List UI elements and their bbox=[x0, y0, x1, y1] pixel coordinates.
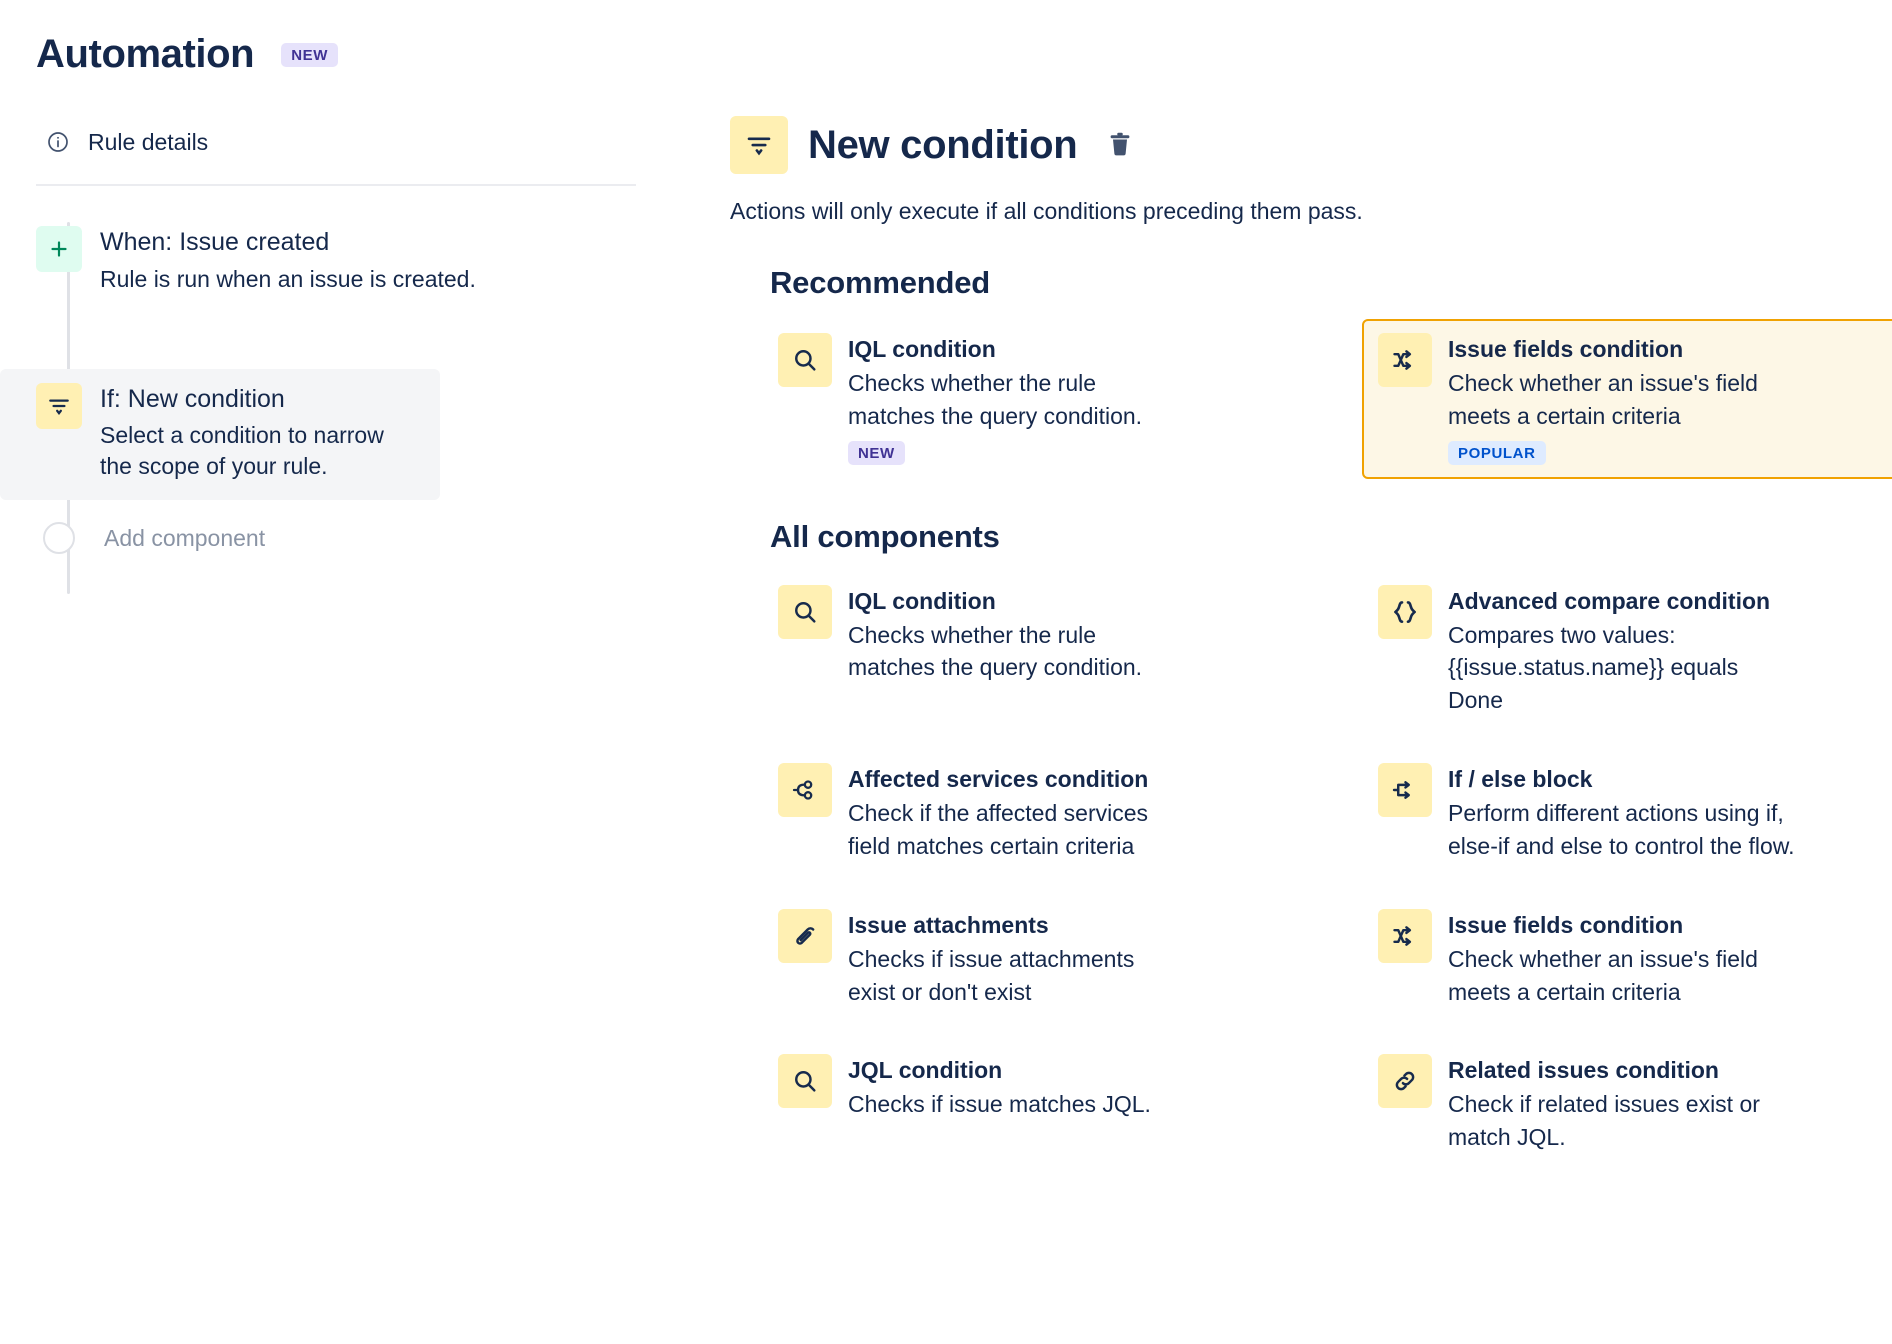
automation-page: Automation NEW Rule details bbox=[0, 0, 1892, 1344]
filter-icon bbox=[730, 116, 788, 174]
timeline-node-body: When: Issue created Rule is run when an … bbox=[100, 226, 476, 295]
sidebar-header: Automation NEW bbox=[0, 0, 720, 86]
component-card-jql-condition[interactable]: JQL condition Checks if issue matches JQ… bbox=[762, 1040, 1362, 1168]
braces-icon bbox=[1378, 585, 1432, 639]
component-card-iql-condition-all[interactable]: IQL condition Checks whether the rule ma… bbox=[762, 571, 1362, 732]
panel-title: New condition bbox=[808, 125, 1077, 165]
rule-timeline: When: Issue created Rule is run when an … bbox=[0, 212, 720, 574]
component-desc: Checks whether the rule matches the quer… bbox=[848, 367, 1178, 433]
component-name: Issue fields condition bbox=[1448, 911, 1793, 941]
component-text: Issue fields condition Check whether an … bbox=[1448, 333, 1793, 465]
component-name: Issue fields condition bbox=[1448, 335, 1793, 365]
timeline-node-desc: Rule is run when an issue is created. bbox=[100, 264, 476, 295]
component-text: Issue attachments Checks if issue attach… bbox=[848, 909, 1183, 1009]
component-name: Related issues condition bbox=[1448, 1056, 1788, 1086]
component-name: IQL condition bbox=[848, 587, 1178, 617]
plus-icon bbox=[36, 226, 82, 272]
component-card-issue-attachments[interactable]: Issue attachments Checks if issue attach… bbox=[762, 895, 1362, 1023]
all-components-section-title: All components bbox=[770, 519, 1892, 555]
component-name: Issue attachments bbox=[848, 911, 1183, 941]
rule-sidebar: Automation NEW Rule details bbox=[0, 0, 720, 1344]
component-name: IQL condition bbox=[848, 335, 1178, 365]
component-text: Advanced compare condition Compares two … bbox=[1448, 585, 1788, 718]
shuffle-icon bbox=[1378, 333, 1432, 387]
timeline-node-body: If: New condition Select a condition to … bbox=[100, 383, 420, 483]
component-card-if-else-block[interactable]: If / else block Perform different action… bbox=[1362, 749, 1892, 877]
component-desc: Compares two values: {{issue.status.name… bbox=[1448, 619, 1788, 718]
add-component-circle-icon bbox=[43, 522, 75, 554]
component-desc: Checks if issue attachments exist or don… bbox=[848, 943, 1183, 1009]
component-badge-row: POPULAR bbox=[1448, 441, 1793, 465]
paperclip-icon bbox=[778, 909, 832, 963]
component-desc: Perform different actions using if, else… bbox=[1448, 797, 1798, 863]
component-card-related-issues-condition[interactable]: Related issues condition Check if relate… bbox=[1362, 1040, 1892, 1168]
component-name: Advanced compare condition bbox=[1448, 587, 1788, 617]
timeline-node-title: If: New condition bbox=[100, 384, 420, 415]
link-icon bbox=[1378, 1054, 1432, 1108]
recommended-grid: IQL condition Checks whether the rule ma… bbox=[730, 319, 1892, 479]
timeline-node-desc: Select a condition to narrow the scope o… bbox=[100, 420, 420, 482]
condition-picker-panel: New condition Actions will only execute … bbox=[720, 0, 1892, 1344]
shuffle-icon bbox=[1378, 909, 1432, 963]
all-components-grid: IQL condition Checks whether the rule ma… bbox=[730, 571, 1892, 1168]
component-card-iql-condition[interactable]: IQL condition Checks whether the rule ma… bbox=[762, 319, 1362, 479]
search-icon bbox=[778, 585, 832, 639]
add-component-button[interactable]: Add component bbox=[0, 522, 720, 554]
component-desc: Checks if issue matches JQL. bbox=[848, 1088, 1151, 1121]
component-card-advanced-compare-condition[interactable]: Advanced compare condition Compares two … bbox=[1362, 571, 1892, 732]
component-desc: Check whether an issue's field meets a c… bbox=[1448, 367, 1793, 433]
recommended-section-title: Recommended bbox=[770, 265, 1892, 301]
branch-icon bbox=[1378, 763, 1432, 817]
component-name: Affected services condition bbox=[848, 765, 1188, 795]
timeline-node-title: When: Issue created bbox=[100, 227, 476, 258]
panel-subtitle: Actions will only execute if all conditi… bbox=[730, 198, 1892, 225]
component-text: Issue fields condition Check whether an … bbox=[1448, 909, 1793, 1009]
app-new-badge: NEW bbox=[281, 43, 338, 67]
sidebar-item-rule-details[interactable]: Rule details bbox=[46, 122, 720, 162]
component-name: JQL condition bbox=[848, 1056, 1151, 1086]
search-icon bbox=[778, 333, 832, 387]
rule-details-label: Rule details bbox=[88, 129, 208, 156]
component-text: If / else block Perform different action… bbox=[1448, 763, 1798, 863]
services-icon bbox=[778, 763, 832, 817]
sidebar-divider bbox=[36, 184, 636, 186]
component-text: IQL condition Checks whether the rule ma… bbox=[848, 333, 1178, 465]
component-text: Related issues condition Check if relate… bbox=[1448, 1054, 1788, 1154]
status-badge: NEW bbox=[848, 441, 905, 465]
info-icon bbox=[46, 130, 70, 154]
trash-icon[interactable] bbox=[1105, 130, 1135, 160]
filter-icon bbox=[36, 383, 82, 429]
timeline-node-condition[interactable]: If: New condition Select a condition to … bbox=[0, 369, 440, 501]
component-text: Affected services condition Check if the… bbox=[848, 763, 1188, 863]
add-component-label: Add component bbox=[104, 525, 265, 552]
component-name: If / else block bbox=[1448, 765, 1798, 795]
component-desc: Check whether an issue's field meets a c… bbox=[1448, 943, 1793, 1009]
component-card-issue-fields-condition-recommended[interactable]: Issue fields condition Check whether an … bbox=[1362, 319, 1892, 479]
panel-header: New condition bbox=[730, 116, 1892, 174]
component-card-affected-services-condition[interactable]: Affected services condition Check if the… bbox=[762, 749, 1362, 877]
component-desc: Check if the affected services field mat… bbox=[848, 797, 1188, 863]
component-desc: Checks whether the rule matches the quer… bbox=[848, 619, 1178, 685]
component-badge-row: NEW bbox=[848, 441, 1178, 465]
page-title: Automation bbox=[36, 34, 254, 74]
component-desc: Check if related issues exist or match J… bbox=[1448, 1088, 1788, 1154]
component-text: IQL condition Checks whether the rule ma… bbox=[848, 585, 1178, 685]
timeline-node-trigger[interactable]: When: Issue created Rule is run when an … bbox=[0, 212, 720, 313]
component-text: JQL condition Checks if issue matches JQ… bbox=[848, 1054, 1151, 1121]
status-badge: POPULAR bbox=[1448, 441, 1546, 465]
search-icon bbox=[778, 1054, 832, 1108]
component-card-issue-fields-condition-all[interactable]: Issue fields condition Check whether an … bbox=[1362, 895, 1892, 1023]
